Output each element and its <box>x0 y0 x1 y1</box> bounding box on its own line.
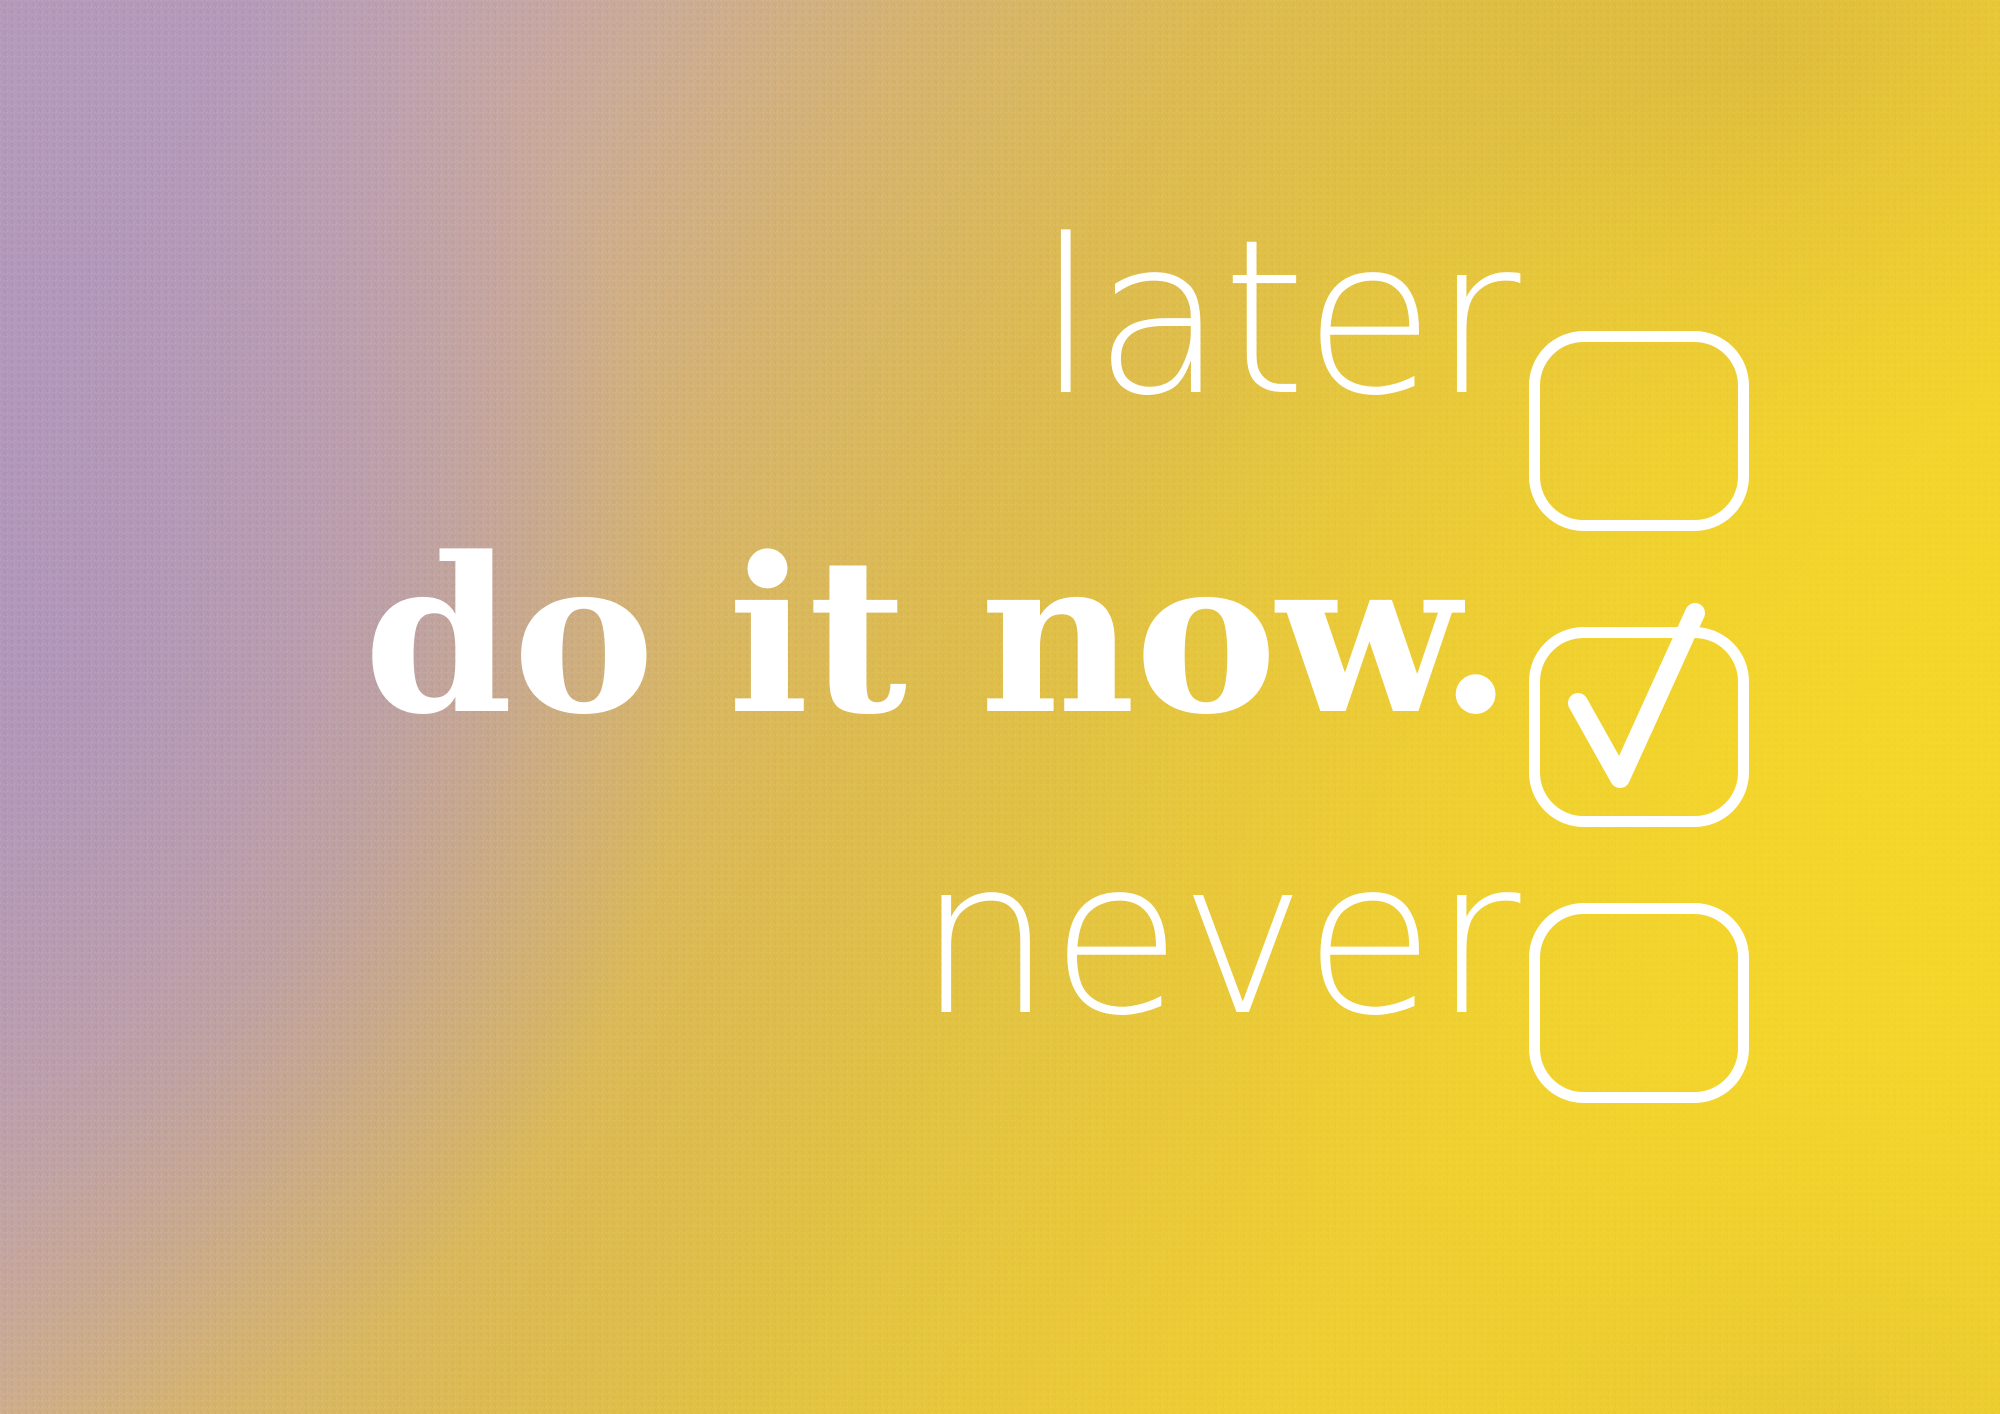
checklist-row-later[interactable]: later <box>0 236 1518 403</box>
checklist-row-never[interactable]: never <box>0 856 1518 1023</box>
checklist-label-do-it-now: do it now. <box>364 554 1512 721</box>
checklist-label-never: never <box>917 856 1518 1023</box>
checklist-label-later: later <box>1037 236 1518 403</box>
checklist: later do it now. never <box>0 0 2000 1414</box>
checkbox-empty-icon <box>1528 300 1750 532</box>
checkbox-never[interactable] <box>1528 872 1750 1072</box>
checklist-row-do-it-now[interactable]: do it now. <box>0 554 1512 721</box>
checkbox-do-it-now[interactable] <box>1528 596 1750 796</box>
checkbox-checked-icon <box>1528 596 1750 828</box>
checkbox-later[interactable] <box>1528 300 1750 500</box>
checkbox-empty-icon <box>1528 872 1750 1104</box>
poster-canvas: later do it now. never <box>0 0 2000 1414</box>
